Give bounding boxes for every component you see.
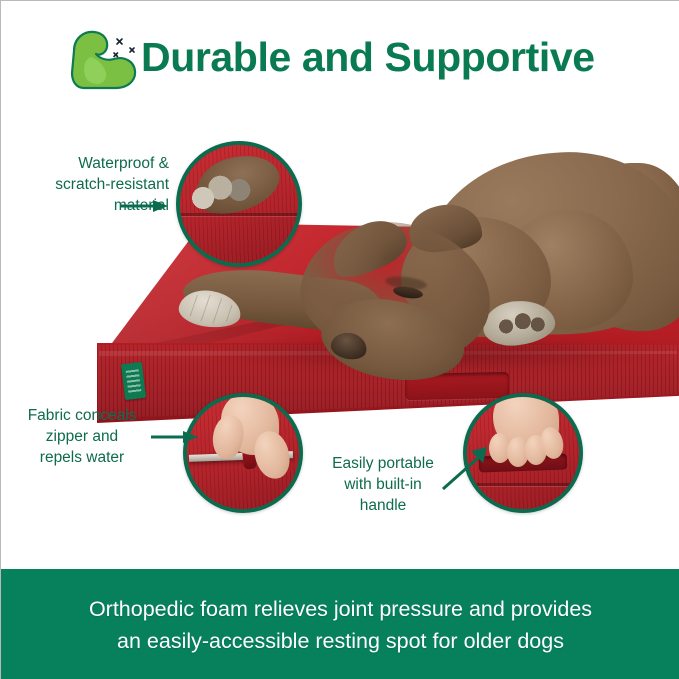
callout-line: repels water xyxy=(7,447,157,468)
page-title: Durable and Supportive xyxy=(141,33,595,81)
banner-text: Orthopedic foam relieves joint pressure … xyxy=(75,593,606,657)
callout-line: Waterproof & xyxy=(19,153,169,174)
magnifier-paw-on-fabric xyxy=(176,141,302,267)
banner-line: Orthopedic foam relieves joint pressure … xyxy=(89,593,592,625)
callout-line: Fabric conceals xyxy=(7,405,157,426)
magnifier-concealed-zipper xyxy=(183,393,303,513)
infographic-page: Durable and Supportive xyxy=(0,0,679,679)
callout-portable-handle: Easily portable with built-in handle xyxy=(313,453,453,516)
arrow-right-icon xyxy=(151,430,199,444)
product-photo: Waterproof & scratch-resistant material … xyxy=(1,105,679,569)
callout-line: Easily portable xyxy=(313,453,453,474)
bottom-banner: Orthopedic foam relieves joint pressure … xyxy=(1,569,679,679)
flexed-biceps-icon xyxy=(64,23,142,95)
callout-line: with built-in xyxy=(313,474,453,495)
dog-rear-paw-pads xyxy=(492,308,547,341)
callout-fabric-zipper: Fabric conceals zipper and repels water xyxy=(7,405,157,468)
arrow-up-right-icon xyxy=(441,445,493,493)
arrow-right-icon xyxy=(121,199,169,213)
callout-line: zipper and xyxy=(7,426,157,447)
callout-line: handle xyxy=(313,495,453,516)
banner-line: an easily-accessible resting spot for ol… xyxy=(89,625,592,657)
callout-line: scratch-resistant xyxy=(19,174,169,195)
header: Durable and Supportive xyxy=(1,1,679,109)
